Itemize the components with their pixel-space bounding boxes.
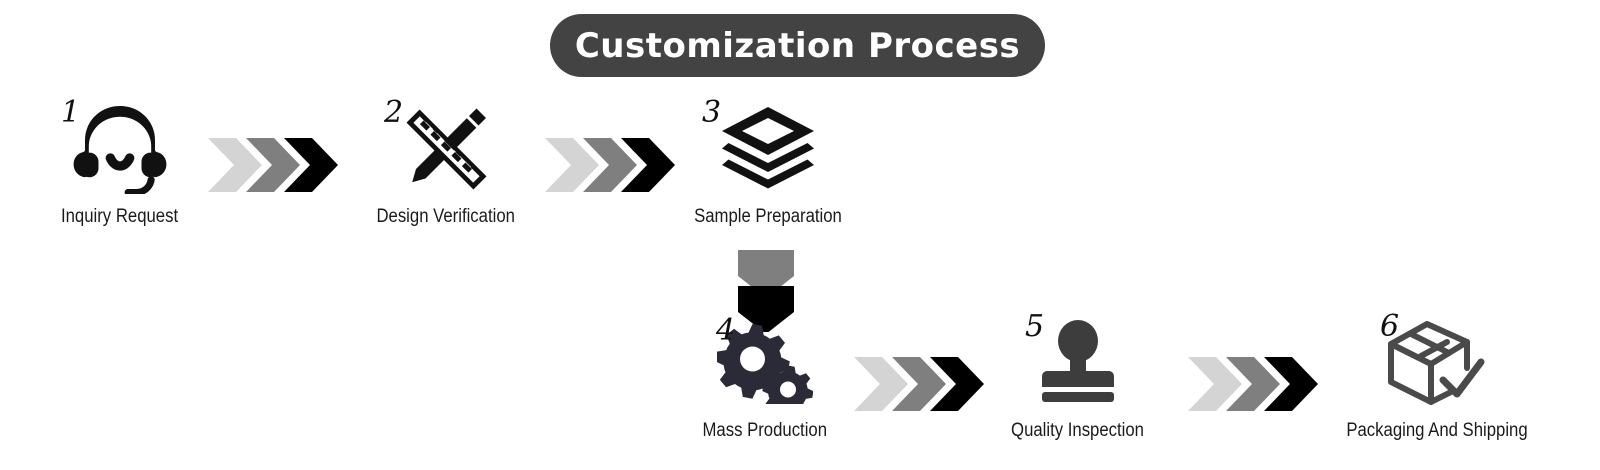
arrow-right-2-3: [543, 136, 675, 194]
process-step-4: 4 Mass Production: [670, 314, 860, 442]
arrow-right-4-5: [852, 355, 984, 413]
stamp-icon: [1035, 320, 1121, 404]
step-2-label: Design Verification: [377, 206, 515, 228]
headset-icon: [71, 102, 169, 194]
step-4-icon-wrap: 4: [670, 314, 860, 410]
step-5-icon-wrap: 5: [983, 314, 1173, 410]
ruler-pencil-icon: [399, 102, 493, 194]
step-6-icon-wrap: 6: [1342, 314, 1532, 410]
step-1-label: Inquiry Request: [61, 206, 178, 228]
page-title: Customization Process: [575, 26, 1020, 66]
step-2-icon-wrap: 2: [351, 100, 541, 196]
step-6-number: 6: [1380, 312, 1399, 342]
process-step-3: 3 Sample Preparation: [673, 100, 863, 228]
step-5-number: 5: [1025, 312, 1044, 342]
arrow-right-1-2: [206, 136, 338, 194]
process-step-1: 1 Inquiry Request: [25, 100, 215, 228]
step-1-icon-wrap: 1: [25, 100, 215, 196]
process-step-2: 2 Design Verification: [351, 100, 541, 228]
step-3-icon-wrap: 3: [673, 100, 863, 196]
process-step-6: 6 Packaging And Shipping: [1342, 314, 1532, 442]
step-2-number: 2: [384, 98, 403, 128]
page-title-pill: Customization Process: [550, 14, 1045, 77]
step-6-label: Packaging And Shipping: [1346, 420, 1527, 442]
step-4-number: 4: [716, 316, 735, 346]
step-1-number: 1: [61, 98, 80, 128]
step-3-number: 3: [702, 98, 721, 128]
step-5-label: Quality Inspection: [1012, 420, 1145, 442]
step-3-label: Sample Preparation: [694, 206, 842, 228]
step-4-label: Mass Production: [703, 420, 828, 442]
arrow-right-5-6: [1186, 355, 1318, 413]
process-step-5: 5 Quality Inspection: [983, 314, 1173, 442]
layers-icon: [720, 105, 816, 191]
